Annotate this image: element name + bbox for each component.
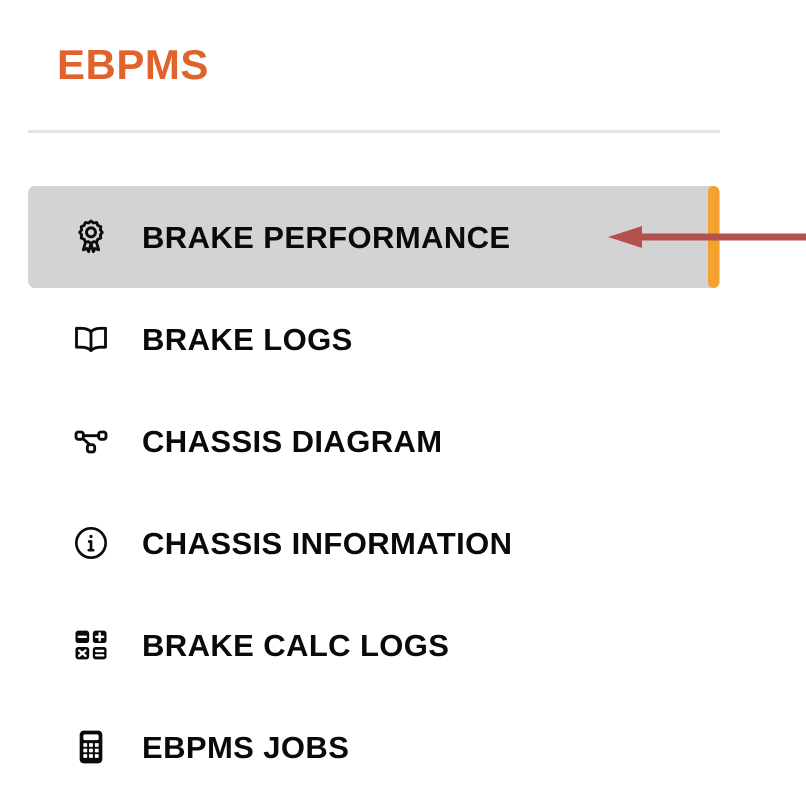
sidebar-item-chassis-diagram[interactable]: CHASSIS DIAGRAM [0, 390, 806, 492]
info-circle-icon [68, 520, 114, 566]
sidebar-item-chassis-information[interactable]: CHASSIS INFORMATION [0, 492, 806, 594]
calculator-keys-icon [68, 622, 114, 668]
sidebar-item-label: BRAKE CALC LOGS [142, 630, 449, 661]
sidebar-item-brake-performance[interactable]: BRAKE PERFORMANCE [0, 186, 806, 288]
sidebar-item-label: CHASSIS DIAGRAM [142, 426, 443, 457]
app-logo: EBPMS [57, 44, 209, 86]
sidebar-item-label: BRAKE LOGS [142, 324, 353, 355]
sidebar-nav: BRAKE PERFORMANCE BRAKE LOGS [0, 186, 806, 798]
open-book-icon [68, 316, 114, 362]
sidebar-item-brake-logs[interactable]: BRAKE LOGS [0, 288, 806, 390]
sidebar-item-ebpms-jobs[interactable]: EBPMS JOBS [0, 696, 806, 798]
sidebar-item-label: BRAKE PERFORMANCE [142, 222, 510, 253]
sidebar-item-label: CHASSIS INFORMATION [142, 528, 512, 559]
sidebar-item-label: EBPMS JOBS [142, 732, 349, 763]
award-badge-icon [68, 214, 114, 260]
ebpms-sidebar-screen: EBPMS BRAKE PERFORMANCE [0, 0, 806, 796]
sidebar-item-brake-calc-logs[interactable]: BRAKE CALC LOGS [0, 594, 806, 696]
node-graph-icon [68, 418, 114, 464]
header-divider [28, 130, 720, 133]
active-item-indicator [708, 186, 719, 288]
calculator-icon [68, 724, 114, 770]
